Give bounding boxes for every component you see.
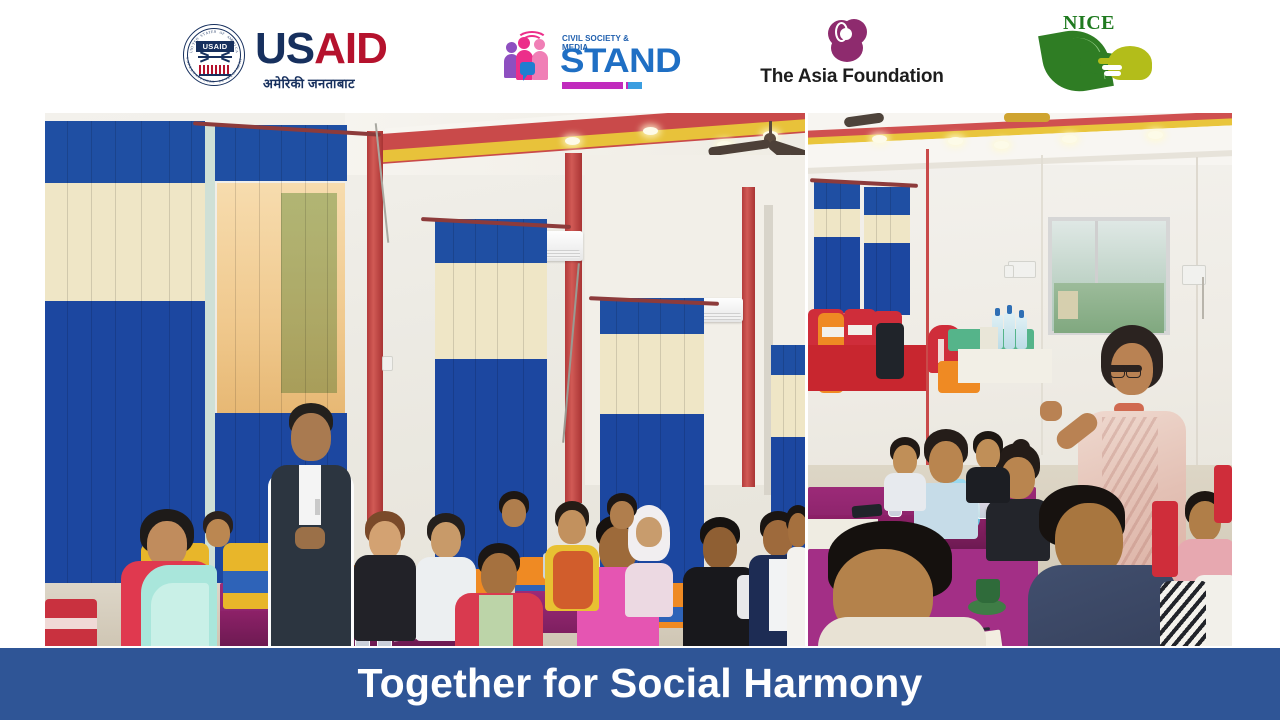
nice-handshake-icon bbox=[1080, 44, 1152, 88]
stand-logo: CIVIL SOCIETY & MEDIA STAND bbox=[500, 20, 645, 98]
asia-foundation-wordmark: The Asia Foundation bbox=[757, 66, 947, 88]
usaid-seal-icon: USAID UNITED STATES OF AMERICAINTERNATIO… bbox=[183, 24, 245, 86]
slide: USAID UNITED STATES OF AMERICAINTERNATIO… bbox=[0, 0, 1280, 720]
asia-foundation-logo: The Asia Foundation bbox=[757, 18, 947, 96]
person-participant-11 bbox=[605, 493, 639, 539]
person-seated-4 bbox=[964, 431, 1012, 503]
person-participant-2 bbox=[353, 511, 417, 641]
stand-wordmark: STAND bbox=[560, 43, 681, 79]
person-foreground-3 bbox=[808, 521, 986, 646]
photo-training-hall-left bbox=[45, 113, 805, 646]
photo-strip bbox=[45, 113, 1232, 646]
usaid-wordmark: USAID bbox=[255, 26, 387, 72]
usaid-seal-ring-text: UNITED STATES OF AMERICAINTERNATIONAL DE… bbox=[184, 25, 244, 85]
asia-foundation-mark-icon bbox=[825, 18, 871, 64]
person-participant-13 bbox=[201, 511, 235, 555]
banner: Together for Social Harmony bbox=[0, 648, 1280, 720]
usaid-wordmark-us: US bbox=[255, 24, 314, 73]
person-facilitator bbox=[263, 403, 359, 646]
person-participant-8 bbox=[681, 517, 759, 646]
person-participant-6 bbox=[543, 501, 601, 611]
usaid-wordmark-aid: AID bbox=[314, 24, 387, 73]
usaid-tagline: अमेरिकी जनताबाट bbox=[263, 74, 355, 92]
person-participant-4 bbox=[453, 543, 545, 646]
stand-people-icon bbox=[504, 34, 562, 92]
person-participant-10 bbox=[787, 505, 805, 646]
usaid-logo: USAID UNITED STATES OF AMERICAINTERNATIO… bbox=[183, 22, 383, 94]
banner-title: Together for Social Harmony bbox=[0, 648, 1280, 720]
stand-underline-bar bbox=[562, 82, 642, 89]
photo-discussion-right bbox=[808, 113, 1232, 646]
logo-bar: USAID UNITED STATES OF AMERICAINTERNATIO… bbox=[0, 0, 1280, 113]
nice-logo: NICE bbox=[1035, 12, 1160, 100]
person-seated-3 bbox=[882, 437, 928, 511]
person-participant-12 bbox=[497, 491, 531, 535]
